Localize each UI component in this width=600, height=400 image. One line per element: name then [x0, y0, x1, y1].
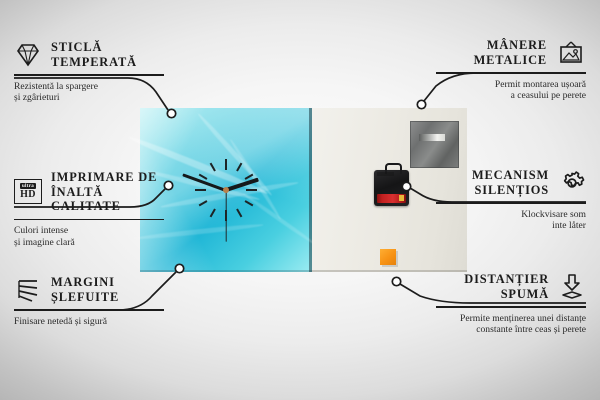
clock-center-cap — [223, 187, 229, 193]
callout-rule — [14, 74, 164, 76]
callout-sticla-temperata: STICLĂ TEMPERATĂ Rezistentă la spargere … — [14, 40, 164, 104]
ultra-hd-icon: ultra HD — [14, 179, 42, 204]
callout-title-line1: MÂNERE — [474, 38, 547, 53]
clock-dial-panel — [140, 108, 312, 272]
foam-spacer-pad — [380, 249, 396, 265]
foam-spacer-arrow-icon — [558, 273, 586, 301]
callout-desc-line1: Rezistentă la spargere — [14, 81, 164, 93]
callout-desc-line2: a ceasului pe perete — [436, 90, 586, 102]
callout-title-line2: SPUMĂ — [464, 287, 549, 302]
callout-rule — [436, 202, 586, 204]
movement-label — [377, 172, 394, 176]
polished-edges-icon — [14, 277, 42, 303]
metal-hanger-plate — [410, 121, 459, 168]
callout-manere-metalice: MÂNERE METALICE Permit montarea ușoară a… — [436, 38, 586, 102]
callout-desc-line2: constante între ceas și perete — [436, 324, 586, 336]
callout-title-line1: STICLĂ — [51, 40, 137, 55]
callout-desc-line1: Klockvisare som — [436, 209, 586, 221]
quartz-movement — [374, 170, 409, 206]
callout-title-line1: MARGINI — [51, 275, 119, 290]
callout-title-line2: ȘLEFUITE — [51, 290, 119, 305]
ultra-hd-large-text: HD — [20, 190, 36, 200]
callout-desc-line1: Culori intense — [14, 225, 164, 237]
callout-title-line2: METALICE — [474, 53, 547, 68]
callout-rule — [436, 72, 586, 74]
callout-imprimare-hd: ultra HD IMPRIMARE DE ÎNALTĂ CALITATE Cu… — [14, 170, 164, 248]
callout-desc-line2: și imagine clară — [14, 237, 164, 249]
callout-desc-line1: Permite menținerea unei distanțe — [436, 313, 586, 325]
product-photo — [140, 108, 467, 272]
callout-margini-slefuite: MARGINI ȘLEFUITE Finisare netedă și sigu… — [14, 275, 164, 327]
picture-frame-hanger-icon — [556, 40, 586, 66]
callout-title-line1: IMPRIMARE DE — [51, 170, 164, 185]
battery-terminal — [399, 195, 404, 201]
infographic-canvas: STICLĂ TEMPERATĂ Rezistentă la spargere … — [0, 0, 600, 400]
callout-rule — [14, 219, 164, 221]
clock-second-hand — [225, 190, 226, 242]
callout-rule — [436, 306, 586, 308]
callout-desc-line2: și zgârieturi — [14, 92, 164, 104]
callout-rule — [14, 309, 164, 311]
callout-title-line1: MECANISM — [472, 168, 549, 183]
callout-title-line2: SILENȚIOS — [472, 183, 549, 198]
hanger-slot — [419, 134, 445, 141]
callout-mecanism-silentios: MECANISM SILENȚIOS Klockvisare som inte … — [436, 168, 586, 232]
callout-desc-line2: inte låter — [436, 220, 586, 232]
callout-desc-line1: Finisare netedă și sigură — [14, 316, 164, 328]
callout-title-line2: ÎNALTĂ CALITATE — [51, 185, 164, 214]
callout-desc-line1: Permit montarea ușoară — [436, 79, 586, 91]
callout-title-line2: TEMPERATĂ — [51, 55, 137, 70]
battery — [377, 194, 406, 203]
callout-title-line1: DISTANȚIER — [464, 272, 549, 287]
diamond-icon — [14, 42, 42, 68]
gear-icon — [558, 170, 586, 196]
callout-distantier-spuma: DISTANȚIER SPUMĂ Permite menținerea unei… — [436, 272, 586, 336]
